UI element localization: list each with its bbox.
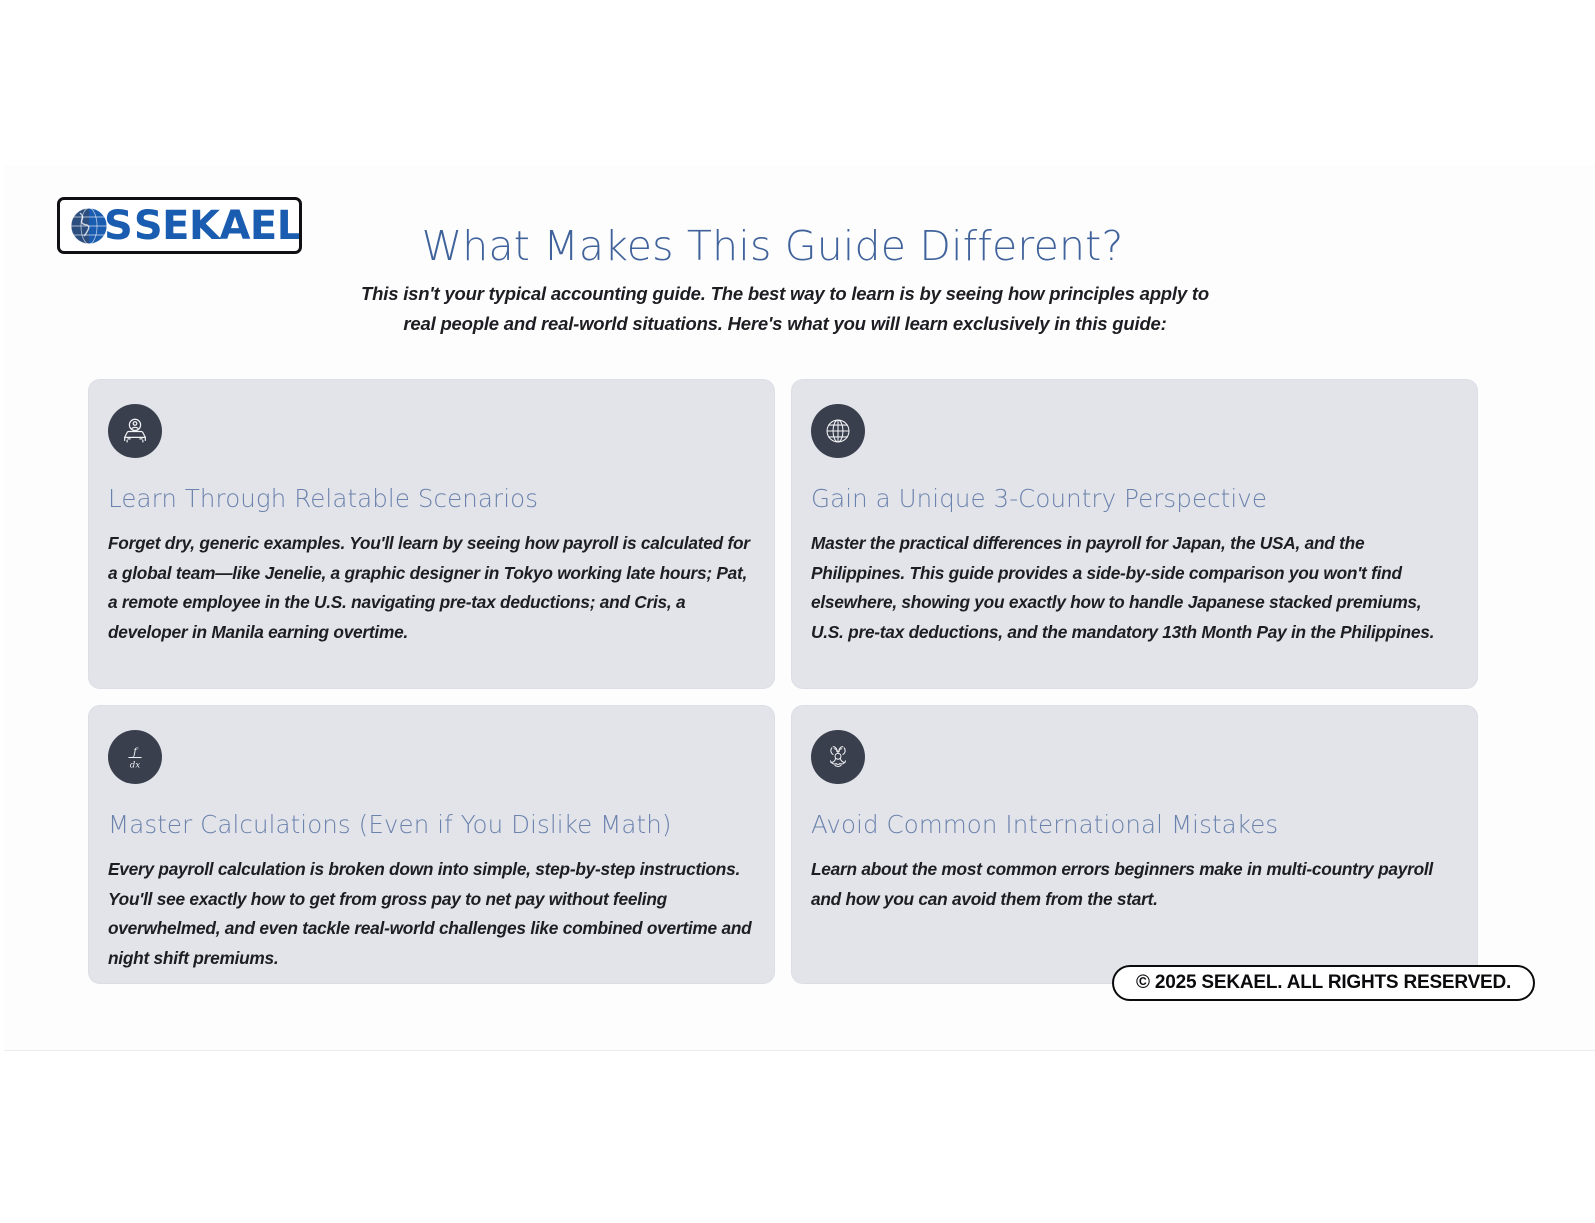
card-title: Gain a Unique 3-Country Perspective bbox=[811, 486, 1455, 513]
svg-text:dx: dx bbox=[130, 759, 140, 769]
biohazard-icon bbox=[811, 730, 865, 784]
page-subtitle-line-1: This isn't your typical accounting guide… bbox=[0, 283, 1570, 305]
feature-card-grid: Learn Through Relatable Scenarios Forget… bbox=[88, 379, 1478, 984]
globe-icon bbox=[811, 404, 865, 458]
page-subtitle-line-2: real people and real-world situations. H… bbox=[0, 313, 1570, 335]
feature-card-avoid-mistakes[interactable]: Avoid Common International Mistakes Lear… bbox=[791, 705, 1478, 984]
feature-card-relatable-scenarios[interactable]: Learn Through Relatable Scenarios Forget… bbox=[88, 379, 775, 689]
derivative-fraction-icon: f dx bbox=[108, 730, 162, 784]
card-body: Forget dry, generic examples. You'll lea… bbox=[108, 529, 752, 648]
feature-card-master-calculations[interactable]: f dx Master Calculations (Even if You Di… bbox=[88, 705, 775, 984]
card-title: Master Calculations (Even if You Dislike… bbox=[108, 812, 752, 839]
page-title: What Makes This Guide Different? bbox=[0, 222, 1545, 270]
card-body: Every payroll calculation is broken down… bbox=[108, 855, 752, 974]
card-title: Avoid Common International Mistakes bbox=[811, 812, 1455, 839]
copyright-badge: © 2025 SEKAEL. ALL RIGHTS RESERVED. bbox=[1112, 965, 1535, 1001]
card-title: Learn Through Relatable Scenarios bbox=[108, 486, 752, 513]
card-body: Learn about the most common errors begin… bbox=[811, 855, 1455, 915]
svg-text:f: f bbox=[132, 746, 139, 758]
driver-car-pin-icon bbox=[108, 404, 162, 458]
feature-card-3-country-perspective[interactable]: Gain a Unique 3-Country Perspective Mast… bbox=[791, 379, 1478, 689]
card-body: Master the practical differences in payr… bbox=[811, 529, 1455, 648]
